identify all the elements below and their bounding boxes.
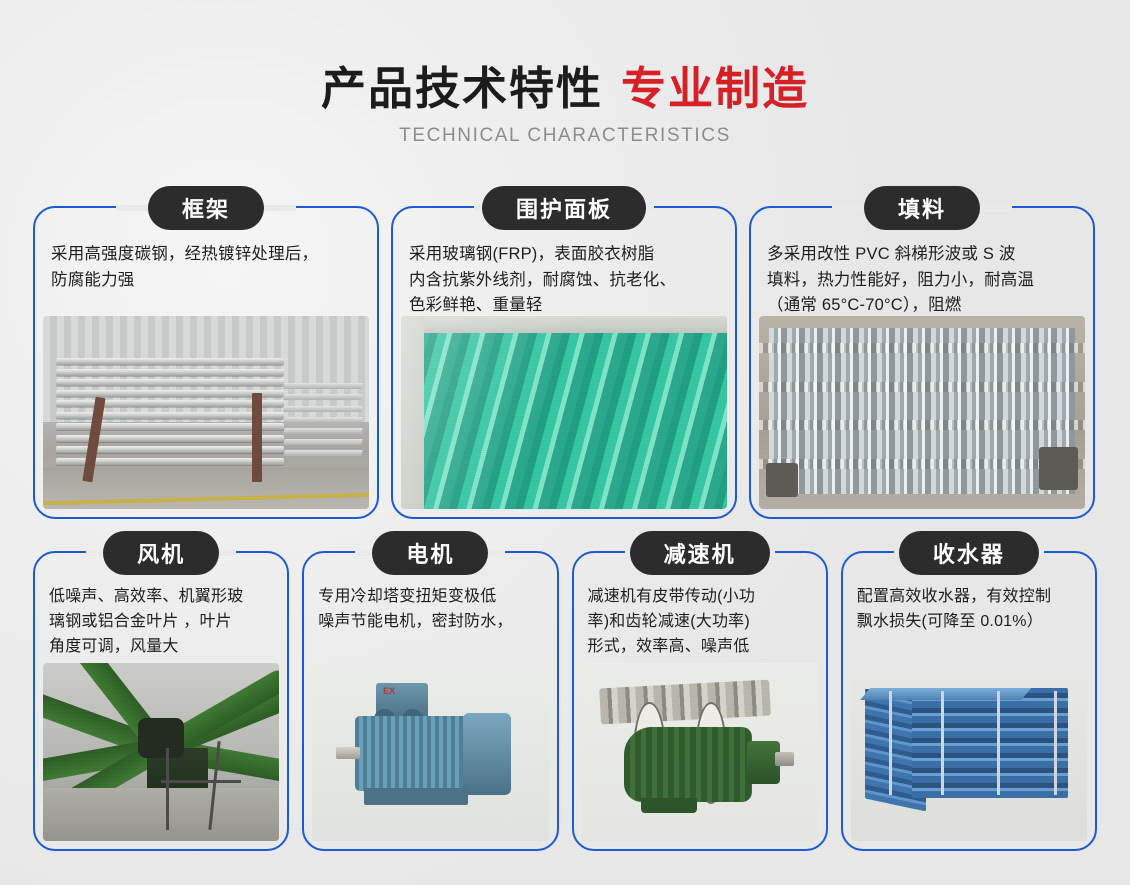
page-subtitle: TECHNICAL CHARACTERISTICS (0, 125, 1130, 147)
feature-badge-enclosure-panel: 围护面板 (482, 186, 646, 230)
feature-badge-motor: 电机 (372, 531, 488, 575)
feature-card-fan[interactable]: 风机 低噪声、高效率、机翼形玻 璃钢或铝合金叶片 ，叶片 角度可调，风量大 (33, 551, 289, 851)
page-header: 产品技术特性专业制造 TECHNICAL CHARACTERISTICS (0, 0, 1130, 147)
feature-card-fill[interactable]: 填料 多采用改性 PVC 斜梯形波或 S 波 填料，热力性能好，阻力小，耐高温 … (749, 206, 1095, 519)
feature-card-reducer[interactable]: 减速机 减速机有皮带传动(小功 率)和齿轮减速(大功率) 形式，效率高、噪声低 (572, 551, 828, 851)
green-fan-blades-photo (43, 663, 279, 841)
feature-row-1: 框架 采用高强度碳钢，经热镀锌处理后， 防腐能力强 (33, 206, 1097, 519)
page-title-accent: 专业制造 (621, 63, 809, 114)
feature-badge-drift-eliminator: 收水器 (899, 531, 1039, 575)
feature-card-motor[interactable]: 电机 专用冷却塔变扭矩变极低 噪声节能电机，密封防水， EX (302, 551, 558, 851)
feature-badge-fan: 风机 (103, 531, 219, 575)
page-title-main: 产品技术特性 (321, 63, 603, 114)
galvanized-steel-frame-photo (43, 316, 369, 509)
green-frp-corrugated-panel-photo (401, 316, 727, 509)
technical-characteristics-page: 产品技术特性专业制造 TECHNICAL CHARACTERISTICS 框架 … (0, 0, 1130, 885)
green-gearbox-reducer-photo (582, 663, 818, 841)
blue-industrial-motor-photo: EX (312, 663, 548, 841)
feature-card-frame[interactable]: 框架 采用高强度碳钢，经热镀锌处理后， 防腐能力强 (33, 206, 379, 519)
feature-badge-reducer: 减速机 (630, 531, 770, 575)
feature-row-2: 风机 低噪声、高效率、机翼形玻 璃钢或铝合金叶片 ，叶片 角度可调，风量大 (33, 551, 1097, 851)
pvc-s-wave-fill-pack-photo (759, 316, 1085, 509)
page-title: 产品技术特性专业制造 (0, 66, 1130, 111)
blue-drift-eliminator-photo (851, 663, 1087, 841)
feature-badge-frame: 框架 (148, 186, 264, 230)
feature-card-drift-eliminator[interactable]: 收水器 配置高效收水器，有效控制 飘水损失(可降至 0.01%） (841, 551, 1097, 851)
feature-badge-fill: 填料 (864, 186, 980, 230)
feature-card-enclosure-panel[interactable]: 围护面板 采用玻璃钢(FRP)，表面胶衣树脂 内含抗紫外线剂，耐腐蚀、抗老化、 … (391, 206, 737, 519)
